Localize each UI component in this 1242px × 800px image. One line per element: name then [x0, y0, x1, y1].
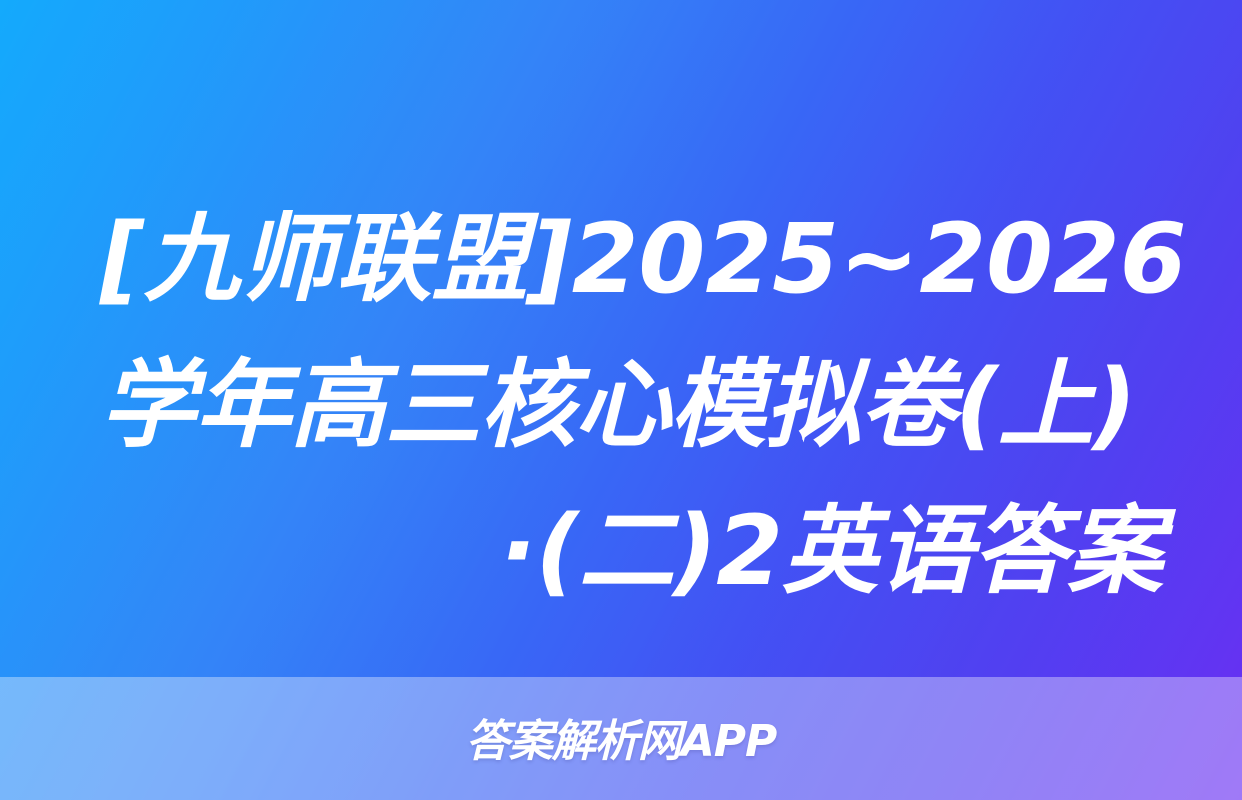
cover-title-line-2: 学年高三核心模拟卷(上) — [100, 332, 1162, 478]
cover-title-line-1: [九师联盟]2025~2026 — [100, 186, 1162, 332]
cover-title-line-3: ·(二)2英语答案 — [100, 478, 1162, 624]
app-watermark-label: 答案解析网APP — [0, 705, 1242, 769]
cover-card: [九师联盟]2025~2026 学年高三核心模拟卷(上) ·(二)2英语答案 答… — [0, 0, 1242, 800]
cover-title-block: [九师联盟]2025~2026 学年高三核心模拟卷(上) ·(二)2英语答案 — [100, 186, 1162, 624]
